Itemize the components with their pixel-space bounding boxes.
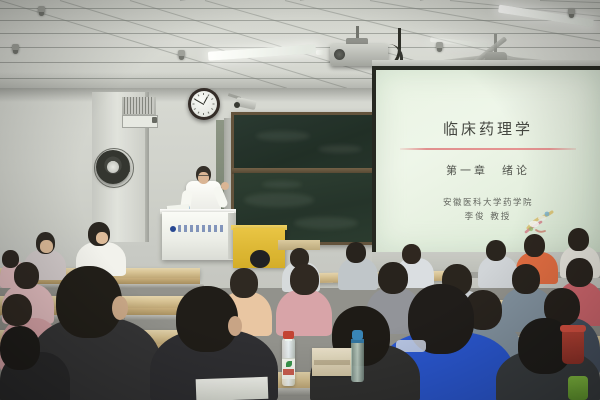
wall-fan-hub [107,161,119,173]
slide-subtitle: 第一章 绪论 [376,162,600,178]
thermos-lid [560,325,586,332]
bottle-cap [283,331,294,339]
student-head [486,240,506,261]
eyeglasses-icon [198,175,209,179]
sprinkler-icon [12,44,19,53]
student-body [276,290,332,336]
tissue-box-label [314,360,350,365]
sports-bottle-cap [352,330,363,340]
sprinkler-icon [436,42,443,51]
vent-grille-icon [124,97,154,114]
student-ear [112,296,128,320]
student-ear [228,316,242,336]
student-head [14,262,39,289]
ceiling-light-3 [316,50,324,55]
clock-face [191,91,217,117]
student-head [230,268,258,298]
green-bag [568,376,588,400]
sprinkler-icon [38,6,45,15]
student-head [346,242,366,263]
lecturer-gesturing-hand [221,182,229,190]
student-head [378,262,408,294]
projector-lens-icon [334,49,345,60]
slide-author: 李俊 教授 [376,210,600,222]
student-head [402,244,421,264]
vent-knob [152,117,157,123]
open-notebook [196,377,269,400]
student-head [2,294,32,326]
student-head [568,228,589,251]
university-logo-icon [170,226,176,232]
lecture-podium [162,212,234,260]
slide-title: 临床药理学 [376,118,600,139]
decorative-slide-logo-icon [522,208,556,238]
student-head [0,326,40,370]
camera-lens-icon [234,102,240,108]
clock-minute-hand [194,98,204,104]
sprinkler-icon [178,50,185,59]
sports-bottle [351,340,364,382]
bottle-leaf-icon [286,361,292,367]
sprinkler-icon [568,8,575,17]
student-head [566,258,593,287]
bottle-label-band [283,369,294,375]
slide-organization: 安徽医科大学药学院 [376,196,600,208]
student-face [96,232,108,244]
student-head [290,264,319,295]
podium-university-text [178,225,224,232]
blackboard-panel-upper [234,115,378,170]
cabinet-opening [250,250,270,268]
student-head [524,234,545,257]
slide-divider-rule [400,148,576,150]
red-thermos [562,330,584,364]
lecture-hall-photo: 临床药理学 第一章 绪论 安徽医科大学药学院 李俊 教授 [0,0,600,400]
student-head [512,264,540,294]
slide-content: 临床药理学 第一章 绪论 安徽医科大学药学院 李俊 教授 [376,70,600,252]
student-face [40,240,53,253]
